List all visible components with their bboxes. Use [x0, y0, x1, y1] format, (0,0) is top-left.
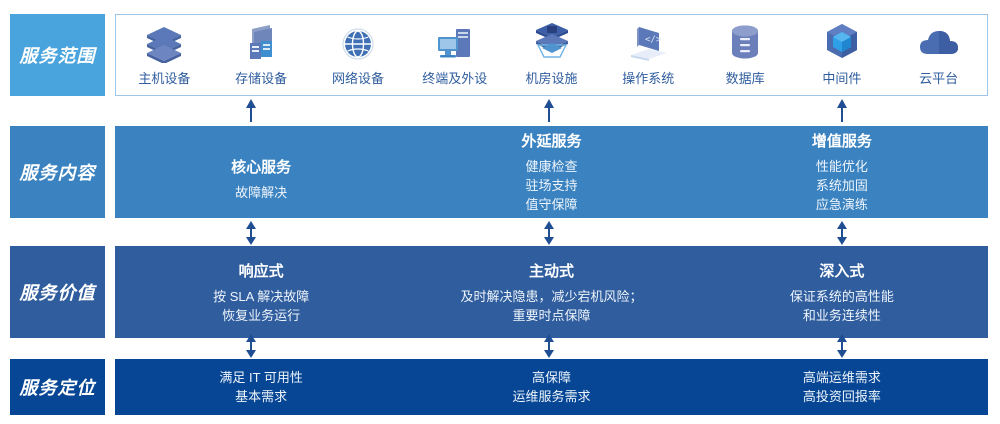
arrow-double-vertical-icon [542, 334, 556, 358]
scope-item-label: 操作系统 [622, 68, 674, 87]
cube-middleware-icon [821, 23, 863, 63]
content-column-line: 故障解决 [235, 183, 287, 202]
value-column-proactive: 主动式 及时解决隐患，减少宕机风险； 重要时点保障 [406, 247, 696, 337]
position-column-line: 高保障 [532, 368, 571, 387]
position-column-line: 满足 IT 可用性 [219, 368, 303, 387]
content-column-core: 核心服务 故障解决 [116, 127, 406, 217]
value-column-title: 深入式 [819, 260, 864, 281]
value-column-title: 响应式 [239, 260, 284, 281]
database-cylinder-icon [725, 23, 765, 63]
scope-item-label: 中间件 [822, 68, 861, 87]
connector-content-value-1 [240, 221, 262, 245]
arrow-double-vertical-icon [835, 221, 849, 245]
laptop-code-icon: </> [625, 23, 671, 63]
scope-item-facility[interactable]: 机房设施 [503, 15, 600, 95]
arrow-up-icon [244, 99, 258, 123]
scope-item-label: 终端及外设 [422, 68, 487, 87]
value-band: 响应式 按 SLA 解决故障 恢复业务运行 主动式 及时解决隐患，减少宕机风险；… [115, 246, 988, 338]
content-column-line: 健康检查 [525, 157, 577, 176]
scope-item-label: 数据库 [726, 68, 765, 87]
content-column-line: 值守保障 [525, 195, 577, 214]
position-column-basic: 满足 IT 可用性 基本需求 [116, 360, 406, 414]
value-column-line: 和业务连续性 [803, 306, 881, 325]
content-column-line: 驻场支持 [525, 176, 577, 195]
connector-value-position-2 [538, 334, 560, 358]
position-column-premium: 高端运维需求 高投资回报率 [697, 360, 987, 414]
scope-item-endpoint[interactable]: 终端及外设 [406, 15, 503, 95]
scope-item-label: 云平台 [919, 68, 958, 87]
value-column-title: 主动式 [529, 260, 574, 281]
globe-network-icon [337, 23, 379, 63]
position-column-line: 高投资回报率 [803, 387, 881, 406]
content-column-line: 性能优化 [816, 157, 868, 176]
scope-item-middleware[interactable]: 中间件 [793, 15, 890, 95]
cloud-icon [916, 23, 962, 63]
value-column-reactive: 响应式 按 SLA 解决故障 恢复业务运行 [116, 247, 406, 337]
scope-item-label: 机房设施 [526, 68, 578, 87]
content-column-title: 增值服务 [812, 130, 872, 151]
content-column-title: 核心服务 [231, 156, 291, 177]
content-column-extended: 外延服务 健康检查 驻场支持 值守保障 [406, 127, 696, 217]
connector-content-value-3 [831, 221, 853, 245]
value-column-line: 重要时点保障 [512, 306, 590, 325]
arrow-up-icon [835, 99, 849, 123]
connector-value-position-1 [240, 334, 262, 358]
row-label-value: 服务价值 [10, 246, 105, 338]
connector-scope-content-2 [538, 99, 560, 123]
scope-item-label: 网络设备 [332, 68, 384, 87]
arrow-up-icon [542, 99, 556, 123]
connector-content-value-2 [538, 221, 560, 245]
service-framework-diagram: 服务范围 服务内容 服务价值 服务定位 [0, 0, 1000, 424]
scope-item-network[interactable]: 网络设备 [310, 15, 407, 95]
value-column-line: 按 SLA 解决故障 [213, 287, 309, 306]
scope-item-label: 主机设备 [138, 68, 190, 87]
content-column-line: 应急演练 [816, 195, 868, 214]
scope-item-host[interactable]: 主机设备 [116, 15, 213, 95]
content-column-title: 外延服务 [521, 130, 581, 151]
arrow-double-vertical-icon [244, 334, 258, 358]
position-column-assured: 高保障 运维服务需求 [406, 360, 696, 414]
connector-scope-content-1 [240, 99, 262, 123]
svg-text:</>: </> [645, 35, 662, 45]
server-stack-icon [143, 23, 185, 63]
row-label-value-text: 服务价值 [20, 279, 96, 305]
row-label-position: 服务定位 [10, 359, 105, 415]
arrow-double-vertical-icon [835, 334, 849, 358]
content-column-line: 系统加固 [816, 176, 868, 195]
arrow-double-vertical-icon [244, 221, 258, 245]
position-column-line: 运维服务需求 [512, 387, 590, 406]
scope-item-cloud[interactable]: 云平台 [890, 15, 987, 95]
row-label-content-text: 服务内容 [20, 159, 96, 185]
scope-item-storage[interactable]: 存储设备 [213, 15, 310, 95]
content-band: 核心服务 故障解决 外延服务 健康检查 驻场支持 值守保障 增值服务 性能优化 … [115, 126, 988, 218]
row-label-position-text: 服务定位 [20, 374, 96, 400]
row-label-scope: 服务范围 [10, 14, 105, 96]
storage-array-icon [240, 23, 282, 63]
scope-item-database[interactable]: 数据库 [697, 15, 794, 95]
desktop-pc-icon [432, 23, 478, 63]
position-band: 满足 IT 可用性 基本需求 高保障 运维服务需求 高端运维需求 高投资回报率 [115, 359, 988, 415]
value-column-indepth: 深入式 保证系统的高性能 和业务连续性 [697, 247, 987, 337]
position-column-line: 基本需求 [235, 387, 287, 406]
value-column-line: 保证系统的高性能 [790, 287, 894, 306]
row-label-content: 服务内容 [10, 126, 105, 218]
position-column-line: 高端运维需求 [803, 368, 881, 387]
connector-value-position-3 [831, 334, 853, 358]
connector-scope-content-3 [831, 99, 853, 123]
scope-item-label: 存储设备 [235, 68, 287, 87]
datacenter-facility-icon [530, 23, 574, 63]
content-column-valueadd: 增值服务 性能优化 系统加固 应急演练 [697, 127, 987, 217]
row-label-scope-text: 服务范围 [20, 42, 96, 68]
value-column-line: 恢复业务运行 [222, 306, 300, 325]
value-column-line: 及时解决隐患，减少宕机风险； [460, 287, 642, 306]
scope-item-os[interactable]: </> 操作系统 [600, 15, 697, 95]
scope-card: 主机设备 存储设备 [115, 14, 988, 96]
arrow-double-vertical-icon [542, 221, 556, 245]
